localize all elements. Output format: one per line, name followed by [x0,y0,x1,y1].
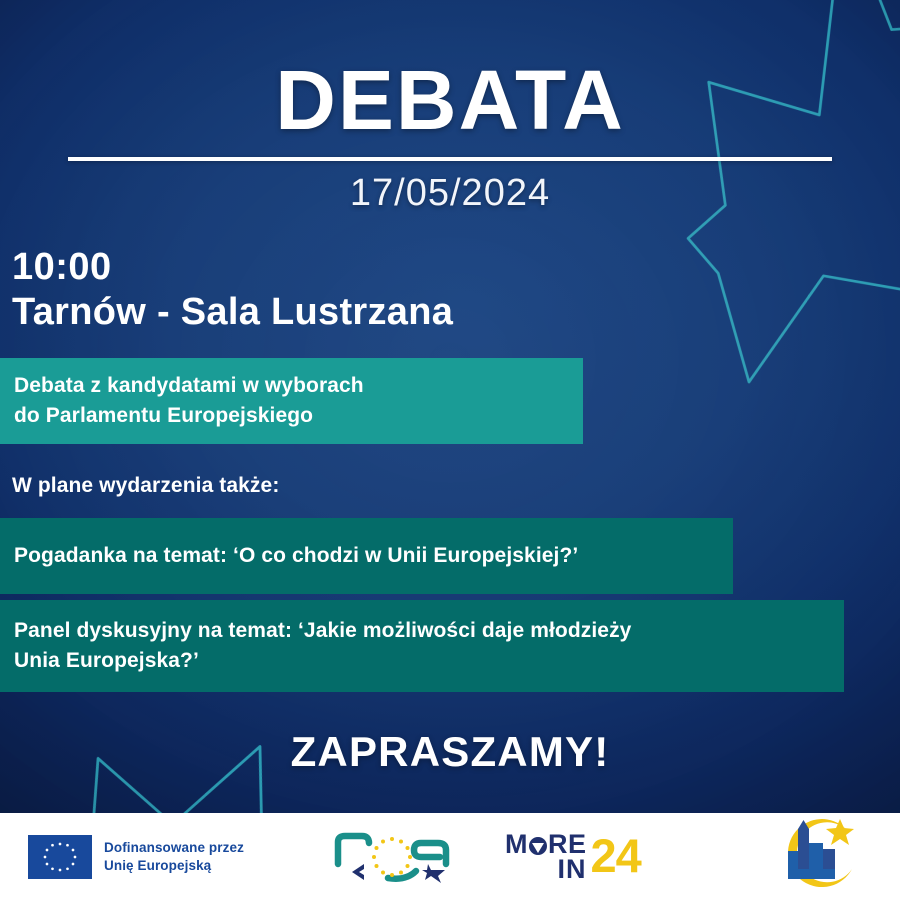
info-box-talk-text: Pogadanka na temat: ‘O co chodzi w Unii … [0,541,578,571]
eu-flag-icon [28,835,92,879]
roe-logo-icon [328,826,456,888]
call-to-action: ZAPRASZAMY! [0,728,900,776]
roe-plane-icon [422,864,445,883]
eu-stars-icon [28,835,92,879]
info-box-debate-line1: Debata z kandydatami w wyborach [14,374,364,397]
info-box-panel: Panel dyskusyjny na temat: ‘Jakie możliw… [0,600,844,692]
more-in-24-year: 24 [591,836,641,876]
tarnow-star-icon [826,819,854,845]
eu-funding-text: Dofinansowane przez Unię Europejską [104,839,244,874]
tarnow-city-logo [768,817,868,897]
more-globe-icon [528,836,548,856]
info-box-panel-text: Panel dyskusyjny na temat: ‘Jakie możliw… [0,616,631,676]
more-in-24-more: MM RERE [505,832,587,857]
info-box-debate-line2: do Parlamentu Europejskiego [14,404,313,427]
roe-eu-stars-icon [372,837,412,877]
more-in-24-logo: MM RERE IN 24 [505,832,641,882]
roe-exchange-logo [328,826,456,888]
page-title: DEBATA [0,58,900,142]
info-box-debate-text: Debata z kandydatami w wyborach do Parla… [0,371,364,431]
eu-funding-line2: Unię Europejską [104,858,211,873]
tarnow-city-logo-icon [768,817,868,897]
eu-funding-line1: Dofinansowane przez [104,840,244,855]
more-in-24-in: IN [505,857,587,882]
event-date: 17/05/2024 [0,172,900,215]
roe-chevron-icon [352,864,364,880]
title-divider [68,157,832,161]
info-box-talk-line1: Pogadanka na temat: ‘O co chodzi w Unii … [14,544,578,567]
eu-funding-logo: Dofinansowane przez Unię Europejską [28,835,244,879]
info-box-panel-line1: Panel dyskusyjny na temat: ‘Jakie możliw… [14,619,631,642]
event-place: Tarnów - Sala Lustrzana [12,293,453,333]
info-box-talk: Pogadanka na temat: ‘O co chodzi w Unii … [0,518,733,594]
poster-canvas: DEBATA 17/05/2024 10:00 Tarnów - Sala Lu… [0,0,900,900]
info-box-debate: Debata z kandydatami w wyborach do Parla… [0,358,583,444]
footer-logo-bar: Dofinansowane przez Unię Europejską [0,813,900,900]
info-box-panel-line2: Unia Europejska?’ [14,649,199,672]
agenda-subheading: W plane wydarzenia także: [12,474,279,498]
event-time: 10:00 [12,248,112,288]
